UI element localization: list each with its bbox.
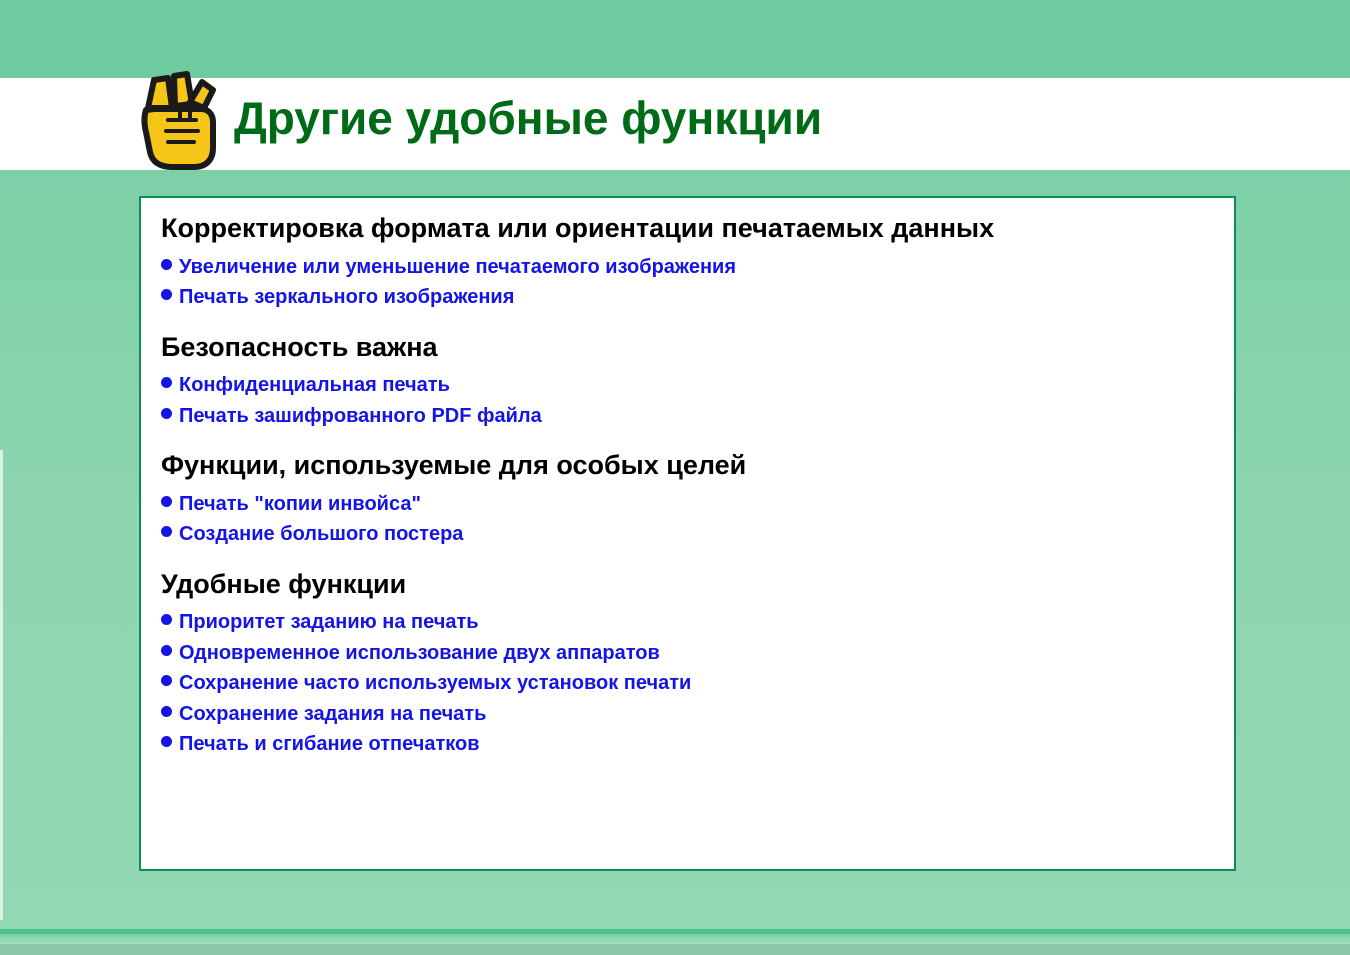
bullet-dot-icon (161, 706, 172, 717)
bullet-dot-icon (161, 526, 172, 537)
bullet-dot-icon (161, 496, 172, 507)
list-item[interactable]: Одновременное использование двух аппарат… (161, 638, 1208, 668)
list-item-label: Конфиденциальная печать (179, 370, 450, 400)
feature-section: Корректировка формата или ориентации печ… (161, 212, 1208, 313)
section-heading: Функции, используемые для особых целей (161, 449, 1208, 483)
list-item[interactable]: Печать зеркального изображения (161, 282, 1208, 312)
list-item[interactable]: Увеличение или уменьшение печатаемого из… (161, 252, 1208, 282)
left-edge-accent (0, 450, 3, 920)
content-card: Корректировка формата или ориентации печ… (139, 196, 1236, 871)
list-item[interactable]: Приоритет заданию на печать (161, 607, 1208, 637)
list-item-label: Приоритет заданию на печать (179, 607, 479, 637)
feature-list: Приоритет заданию на печать Одновременно… (161, 607, 1208, 759)
bullet-dot-icon (161, 377, 172, 388)
bullet-dot-icon (161, 614, 172, 625)
footer-stripe-gradient (0, 934, 1350, 944)
list-item[interactable]: Создание большого постера (161, 519, 1208, 549)
list-item-label: Увеличение или уменьшение печатаемого из… (179, 252, 736, 282)
list-item-label: Сохранение часто используемых установок … (179, 668, 691, 698)
slide-root: Другие удобные функции Корректировка фор… (0, 0, 1350, 955)
list-item[interactable]: Сохранение задания на печать (161, 699, 1208, 729)
list-item[interactable]: Конфиденциальная печать (161, 370, 1208, 400)
list-item[interactable]: Сохранение часто используемых установок … (161, 668, 1208, 698)
section-heading: Удобные функции (161, 568, 1208, 602)
slide-header: Другие удобные функции (0, 60, 1350, 180)
list-item-label: Создание большого постера (179, 519, 463, 549)
list-item-label: Печать зеркального изображения (179, 282, 514, 312)
page-title: Другие удобные функции (234, 95, 822, 145)
list-item-label: Печать и сгибание отпечатков (179, 729, 480, 759)
list-item-label: Печать зашифрованного PDF файла (179, 401, 542, 431)
list-item[interactable]: Печать "копии инвойса" (161, 489, 1208, 519)
feature-section: Функции, используемые для особых целей П… (161, 449, 1208, 550)
list-item-label: Печать "копии инвойса" (179, 489, 421, 519)
bullet-dot-icon (161, 289, 172, 300)
bullet-dot-icon (161, 675, 172, 686)
bullet-dot-icon (161, 259, 172, 270)
list-item-label: Сохранение задания на печать (179, 699, 486, 729)
list-item[interactable]: Печать и сгибание отпечатков (161, 729, 1208, 759)
feature-list: Конфиденциальная печать Печать зашифрова… (161, 370, 1208, 431)
bullet-dot-icon (161, 408, 172, 419)
feature-list: Увеличение или уменьшение печатаемого из… (161, 252, 1208, 313)
list-item[interactable]: Печать зашифрованного PDF файла (161, 401, 1208, 431)
section-heading: Безопасность важна (161, 331, 1208, 365)
bullet-dot-icon (161, 736, 172, 747)
feature-section: Удобные функции Приоритет заданию на печ… (161, 568, 1208, 760)
list-item-label: Одновременное использование двух аппарат… (179, 638, 660, 668)
bullet-dot-icon (161, 645, 172, 656)
victory-hand-icon (134, 68, 220, 172)
section-heading: Корректировка формата или ориентации печ… (161, 212, 1208, 246)
content-card-body: Корректировка формата или ориентации печ… (141, 198, 1234, 759)
feature-section: Безопасность важна Конфиденциальная печа… (161, 331, 1208, 432)
footer-stripe-muted (0, 944, 1350, 955)
feature-list: Печать "копии инвойса" Создание большого… (161, 489, 1208, 550)
